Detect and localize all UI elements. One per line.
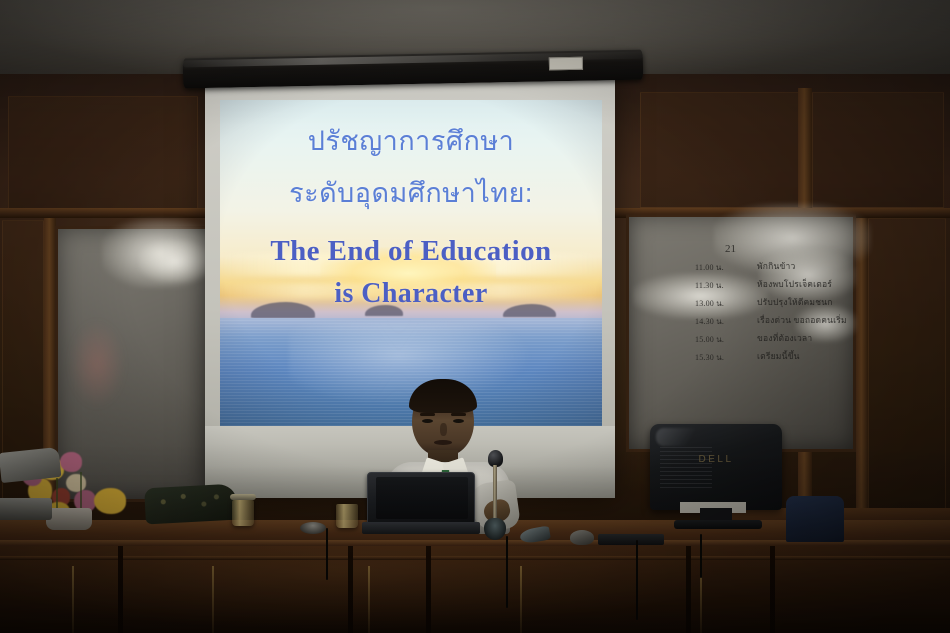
laptop-logo xyxy=(418,511,440,518)
whiteboard-heading: 21 xyxy=(725,243,736,255)
laptop-base[interactable] xyxy=(362,522,480,534)
lecture-hall-photo: 21 11.00 น. พักกินข้าว 11.30 น. ห้องพบโป… xyxy=(0,0,950,633)
slide-vignette xyxy=(220,100,602,426)
whiteboard-row-note: เรื่องด่วน ขอถอดคนเริ่ม xyxy=(757,313,847,327)
presenter-hair xyxy=(409,379,477,413)
microphone-stem xyxy=(493,465,497,521)
whiteboard-row-time: 11.00 น. xyxy=(695,261,724,274)
whiteboard-right-light-spill xyxy=(629,217,853,449)
wall-panel-upper-left xyxy=(8,96,198,214)
whiteboard-row-time: 11.30 น. xyxy=(695,279,724,292)
cable xyxy=(700,534,702,578)
laptop[interactable] xyxy=(362,472,480,534)
desk-panel-seam xyxy=(118,546,123,633)
projected-slide: ปรัชญาการศึกษา ระดับอุดมศึกษาไทย: The En… xyxy=(220,100,602,426)
keyboard[interactable] xyxy=(598,534,664,545)
cable xyxy=(636,540,638,620)
wall-panel-upper-mid xyxy=(640,92,800,208)
presenter-eyebrow-left xyxy=(420,413,435,416)
drinking-glass-right xyxy=(336,504,358,528)
flower-stem xyxy=(80,472,82,510)
microphone-base xyxy=(484,518,506,540)
flower-stem xyxy=(56,478,58,512)
small-dish xyxy=(300,522,326,534)
wall-panel-lower-right xyxy=(868,218,946,518)
whiteboard-row-note: ของที่ต้องเวลา xyxy=(757,331,812,345)
presenter-eyebrow-right xyxy=(451,413,466,416)
podium-microphone[interactable] xyxy=(484,450,506,542)
desk-panel-seam xyxy=(686,546,691,633)
dell-monitor[interactable]: DELL xyxy=(650,424,782,534)
whiteboard-row-note: ปรับปรุงให้ดีคมชนก xyxy=(757,295,833,309)
flower-petal-yellow xyxy=(94,488,126,514)
presenter-eye-left xyxy=(422,419,433,423)
desk-brass-trim xyxy=(368,566,370,633)
desk-panel-seam xyxy=(348,546,353,633)
monitor-highlight xyxy=(656,428,702,446)
presenter-mouth xyxy=(434,440,452,445)
whiteboard-row-time: 15.30 น. xyxy=(695,351,724,364)
glass-lid-left xyxy=(230,494,256,500)
monitor-stand-foot xyxy=(674,520,762,529)
laptop-lid xyxy=(367,472,475,524)
drinking-glass-left xyxy=(232,500,254,526)
desk-equipment-box xyxy=(0,498,52,520)
wall-panel-upper-right xyxy=(812,92,944,208)
whiteboard-row-time: 13.00 น. xyxy=(695,297,724,310)
desk-upper-rail xyxy=(0,556,950,560)
whiteboard-row-time: 14.30 น. xyxy=(695,315,724,328)
cable xyxy=(326,528,328,580)
desk-telephone[interactable] xyxy=(0,447,61,483)
whiteboard-row-note: ห้องพบโปรเจ็คเตอร์ xyxy=(757,277,832,291)
presenter-nose xyxy=(440,423,447,436)
wall-mullion-right-b xyxy=(856,212,868,524)
whiteboard-row-note: พักกินข้าว xyxy=(757,259,795,273)
monitor-vents xyxy=(660,444,712,488)
chair xyxy=(786,496,844,542)
flower-vase xyxy=(46,508,92,530)
desk-brass-trim xyxy=(520,566,522,633)
whiteboard-right: 21 11.00 น. พักกินข้าว 11.30 น. ห้องพบโป… xyxy=(626,214,856,452)
monitor-rear-shell: DELL xyxy=(650,424,782,510)
monitor-brand-logo: DELL xyxy=(650,454,782,465)
cable xyxy=(506,536,508,608)
bag-beading xyxy=(144,484,238,525)
whiteboard-row-time: 15.00 น. xyxy=(695,333,724,346)
presenter-eye-right xyxy=(453,419,464,423)
housing-sticker-label xyxy=(549,57,583,71)
desk-brass-trim xyxy=(72,566,74,633)
desk-panel-seam xyxy=(770,546,775,633)
whiteboard-row-note: เตรียมนี้ขึ้น xyxy=(757,349,800,363)
desk-panel-seam xyxy=(426,546,431,633)
computer-mouse[interactable] xyxy=(570,530,594,545)
dark-beaded-bag xyxy=(144,484,238,525)
desk-brass-trim xyxy=(212,566,214,633)
flower-petal-pink xyxy=(60,452,82,472)
